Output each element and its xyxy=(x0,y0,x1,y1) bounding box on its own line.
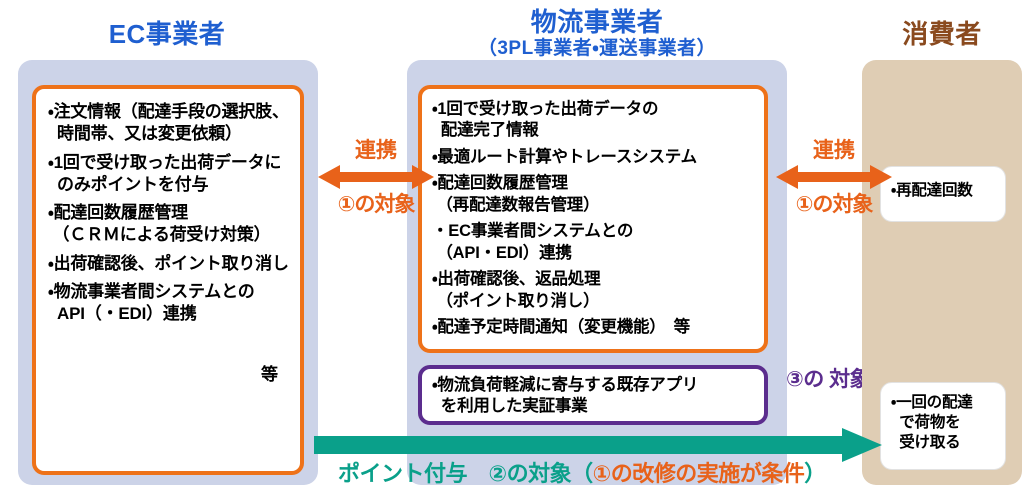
list-item: ・1回で受け取った出荷データの 配達完了情報 xyxy=(432,99,758,142)
bottom-flow-label-part2: ①の改修の実施が条件 xyxy=(593,461,805,486)
column-title-consumer: 消費者 xyxy=(856,20,1028,49)
connector-right-label: 連携 xyxy=(776,139,892,162)
bottom-flow-label: ポイント付与 ②の対象（①の改修の実施が条件） xyxy=(338,462,826,486)
bottom-flow-label-part1: ポイント付与 ②の対象（ xyxy=(338,461,593,486)
connector-ec-logistics: 連携 ①の対象 xyxy=(318,139,434,216)
list-item: ・再配達回数 xyxy=(891,181,1001,201)
connector-right-target: ①の対象 xyxy=(776,193,892,216)
card-logistics-pilot-project: ・物流負荷軽減に寄与する既存アプリ を利用した実証事業 xyxy=(418,365,768,425)
logistics-requirement-list: ・1回で受け取った出荷データの 配達完了情報 ・最適ルート計算やトレースシステム… xyxy=(432,99,758,338)
column-title-ec-text: EC事業者 xyxy=(109,19,226,49)
target-label-3: ③の 対象 xyxy=(786,368,870,392)
consumer-redelivery-list: ・再配達回数 xyxy=(891,181,1001,201)
column-title-ec: EC事業者 xyxy=(14,20,320,49)
ec-requirement-list: ・注文情報（配達手段の選択肢、 時間帯、又は変更依頼） ・1回で受け取った出荷デ… xyxy=(48,101,292,325)
list-item: ・EC事業者間システムとの （API・EDI）連携 xyxy=(432,221,758,264)
card-consumer-single-delivery: ・一回の配達 で荷物を 受け取る xyxy=(880,382,1006,470)
list-item: ・配達回数履歴管理 （ＣＲＭによる荷受け対策） xyxy=(48,202,292,247)
connector-left-target: ①の対象 xyxy=(318,193,434,216)
list-item: ・最適ルート計算やトレースシステム xyxy=(432,147,758,168)
card-consumer-redelivery: ・再配達回数 xyxy=(880,166,1006,222)
column-subtitle-logistics: （3PL事業者・運送事業者） xyxy=(404,38,790,59)
diagram-canvas: EC事業者 物流事業者 （3PL事業者・運送事業者） 消費者 ・注文情報（配達手… xyxy=(0,0,1034,504)
list-item: ・配達予定時間通知（変更機能） 等 xyxy=(432,317,758,338)
list-item: ・一回の配達 で荷物を 受け取る xyxy=(891,393,1001,452)
arrow-right-icon xyxy=(314,428,882,462)
column-title-logistics-text: 物流事業者 xyxy=(531,7,664,37)
list-item: ・1回で受け取った出荷データに のみポイントを付与 xyxy=(48,152,292,197)
connector-left-label: 連携 xyxy=(318,139,434,162)
double-arrow-horizontal-icon xyxy=(776,163,892,191)
list-item: ・注文情報（配達手段の選択肢、 時間帯、又は変更依頼） xyxy=(48,101,292,146)
list-item: ・配達回数履歴管理 （再配達数報告管理） xyxy=(432,173,758,216)
logistics-pilot-list: ・物流負荷軽減に寄与する既存アプリ を利用した実証事業 xyxy=(432,375,758,418)
list-item: ・出荷確認後、返品処理 （ポイント取り消し） xyxy=(432,269,758,312)
card-logistics-requirements: ・1回で受け取った出荷データの 配達完了情報 ・最適ルート計算やトレースシステム… xyxy=(418,85,768,353)
list-item: ・出荷確認後、ポイント取り消し xyxy=(48,253,292,275)
bottom-flow-label-part3: ） xyxy=(804,461,826,486)
consumer-single-delivery-list: ・一回の配達 で荷物を 受け取る xyxy=(891,393,1001,452)
list-item: ・物流負荷軽減に寄与する既存アプリ を利用した実証事業 xyxy=(432,375,758,418)
ec-etc-label: 等 xyxy=(261,360,278,385)
column-title-consumer-text: 消費者 xyxy=(902,19,982,49)
list-item: ・物流事業者間システムとの API（・EDI）連携 xyxy=(48,281,292,326)
double-arrow-horizontal-icon xyxy=(318,163,434,191)
column-title-logistics: 物流事業者 （3PL事業者・運送事業者） xyxy=(404,8,790,59)
card-ec-requirements: ・注文情報（配達手段の選択肢、 時間帯、又は変更依頼） ・1回で受け取った出荷デ… xyxy=(32,85,304,475)
connector-logistics-consumer: 連携 ①の対象 xyxy=(776,139,892,216)
